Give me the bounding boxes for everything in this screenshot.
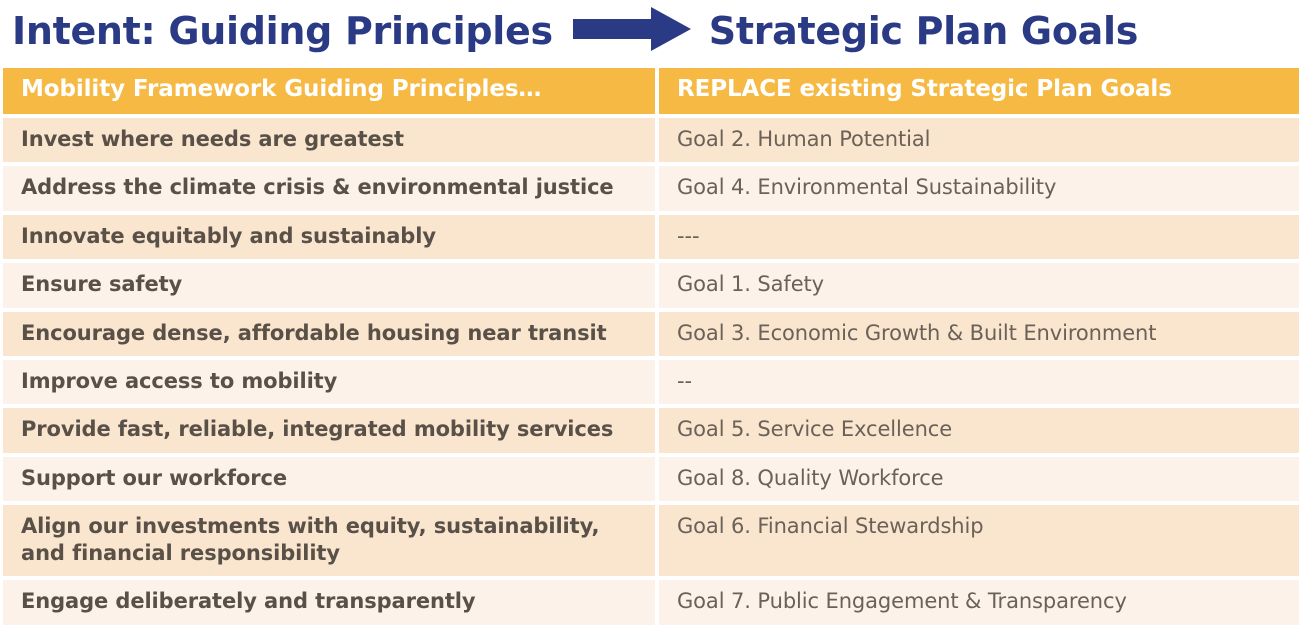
table-header-row: Mobility Framework Guiding Principles… R… [3,68,1295,114]
principle-text: Ensure safety [21,271,641,297]
principle-cell: Encourage dense, affordable housing near… [3,312,655,356]
principle-text: Encourage dense, affordable housing near… [21,320,641,346]
table-row: Provide fast, reliable, integrated mobil… [3,408,1295,452]
column-header-principles: Mobility Framework Guiding Principles… [3,68,655,114]
table-row: Align our investments with equity, susta… [3,505,1295,576]
goal-cell: Goal 2. Human Potential [659,118,1299,162]
table-row: Innovate equitably and sustainably --- [3,215,1295,259]
goal-cell: Goal 8. Quality Workforce [659,457,1299,501]
goal-text: --- [677,223,1285,249]
table-row: Invest where needs are greatest Goal 2. … [3,118,1295,162]
table-row: Support our workforce Goal 8. Quality Wo… [3,457,1295,501]
column-header-goals: REPLACE existing Strategic Plan Goals [659,68,1299,114]
table-row: Ensure safety Goal 1. Safety [3,263,1295,307]
slide-page: Intent: Guiding Principles Strategic Pla… [0,0,1308,630]
goal-cell: --- [659,215,1299,259]
principle-cell: Support our workforce [3,457,655,501]
goal-cell: -- [659,360,1299,404]
goal-text: -- [677,368,1285,394]
goal-cell: Goal 3. Economic Growth & Built Environm… [659,312,1299,356]
principle-cell: Innovate equitably and sustainably [3,215,655,259]
table-row: Encourage dense, affordable housing near… [3,312,1295,356]
principles-goals-table: Mobility Framework Guiding Principles… R… [3,68,1295,625]
goal-text: Goal 2. Human Potential [677,126,1285,152]
principle-text: Invest where needs are greatest [21,126,641,152]
page-title: Intent: Guiding Principles Strategic Pla… [0,0,1308,62]
principle-text: Engage deliberately and transparently [21,588,641,614]
principle-cell: Align our investments with equity, susta… [3,505,655,576]
goal-text: Goal 7. Public Engagement & Transparency [677,588,1285,614]
right-arrow-icon [573,7,691,55]
title-left-text: Intent: Guiding Principles [12,12,553,50]
principle-cell: Improve access to mobility [3,360,655,404]
principle-cell: Invest where needs are greatest [3,118,655,162]
goal-text: Goal 5. Service Excellence [677,416,1285,442]
goal-text: Goal 1. Safety [677,271,1285,297]
goal-cell: Goal 5. Service Excellence [659,408,1299,452]
principle-cell: Ensure safety [3,263,655,307]
goal-text: Goal 4. Environmental Sustainability [677,174,1285,200]
principle-cell: Provide fast, reliable, integrated mobil… [3,408,655,452]
principle-text: Innovate equitably and sustainably [21,223,641,249]
goal-text: Goal 6. Financial Stewardship [677,513,1285,539]
goal-cell: Goal 4. Environmental Sustainability [659,166,1299,210]
goal-cell: Goal 6. Financial Stewardship [659,505,1299,576]
principle-text: Provide fast, reliable, integrated mobil… [21,416,641,442]
principle-text: Improve access to mobility [21,368,641,394]
principle-text: Align our investments with equity, susta… [21,513,641,566]
goal-cell: Goal 7. Public Engagement & Transparency [659,580,1299,624]
goal-cell: Goal 1. Safety [659,263,1299,307]
principle-text: Address the climate crisis & environment… [21,174,641,200]
table-row: Address the climate crisis & environment… [3,166,1295,210]
table-row: Engage deliberately and transparently Go… [3,580,1295,624]
goal-text: Goal 3. Economic Growth & Built Environm… [677,320,1285,346]
principle-cell: Address the climate crisis & environment… [3,166,655,210]
title-right-text: Strategic Plan Goals [709,12,1138,50]
table-row: Improve access to mobility -- [3,360,1295,404]
principle-cell: Engage deliberately and transparently [3,580,655,624]
principle-text: Support our workforce [21,465,641,491]
goal-text: Goal 8. Quality Workforce [677,465,1285,491]
